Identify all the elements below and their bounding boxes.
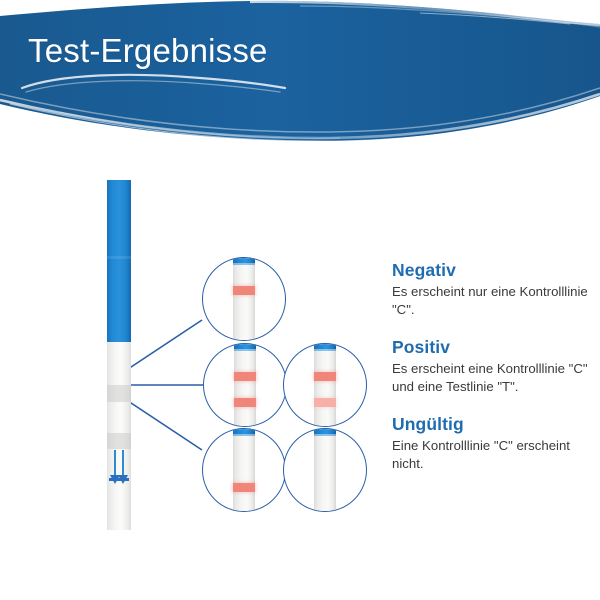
legend-item-positiv: Positiv Es erscheint eine Kontrolllinie … bbox=[392, 337, 590, 395]
legend-description-positiv: Es erscheint eine Kontrolllinie "C" und … bbox=[392, 360, 590, 395]
max-fill-arrow-marks bbox=[108, 448, 130, 494]
control-line-c bbox=[234, 372, 256, 381]
main-strip-blue-handle bbox=[107, 180, 131, 342]
fill-level-bar bbox=[109, 478, 129, 481]
main-strip-band-lower bbox=[107, 433, 131, 449]
mini-strip-blue-handle bbox=[314, 428, 336, 436]
result-callout-positiv-1 bbox=[203, 343, 287, 427]
banner-brushstroke-shape bbox=[0, 0, 600, 145]
result-callout-ungueltig-2 bbox=[283, 428, 367, 512]
legend-item-negativ: Negativ Es erscheint nur eine Kontrollli… bbox=[392, 260, 590, 318]
legend-title-ungueltig: Ungültig bbox=[392, 414, 590, 435]
legend-description-negativ: Es erscheint nur eine Kontrolllinie "C". bbox=[392, 283, 590, 318]
mini-strip-blue-handle bbox=[314, 343, 336, 351]
main-test-strip bbox=[107, 180, 131, 530]
test-line-t bbox=[234, 398, 256, 407]
connector-line-ungueltig bbox=[119, 395, 202, 450]
result-callout-ungueltig-1 bbox=[202, 428, 286, 512]
connector-line-negativ bbox=[119, 320, 202, 375]
mini-strip bbox=[314, 343, 336, 427]
mini-strip-blue-handle bbox=[233, 257, 255, 265]
legend-item-ungueltig: Ungültig Eine Kontrolllinie "C" erschein… bbox=[392, 414, 590, 472]
test-line-t bbox=[233, 483, 255, 492]
control-line-c bbox=[314, 372, 336, 381]
diagram-area: Negativ Es erscheint nur eine Kontrollli… bbox=[0, 145, 600, 600]
legend-title-negativ: Negativ bbox=[392, 260, 590, 281]
main-strip-band-upper bbox=[107, 385, 131, 402]
mini-strip bbox=[233, 428, 255, 512]
test-result-infographic: Test-Ergebnisse bbox=[0, 0, 600, 600]
legend-title-positiv: Positiv bbox=[392, 337, 590, 358]
test-line-t-faint bbox=[314, 398, 336, 407]
result-callout-negativ-1 bbox=[202, 257, 286, 341]
mini-strip-blue-handle bbox=[233, 428, 255, 436]
legend: Negativ Es erscheint nur eine Kontrollli… bbox=[392, 260, 590, 472]
result-callout-positiv-2 bbox=[283, 343, 367, 427]
control-line-c bbox=[233, 286, 255, 295]
mini-strip bbox=[233, 257, 255, 341]
header-banner: Test-Ergebnisse bbox=[0, 0, 600, 145]
page-title: Test-Ergebnisse bbox=[28, 32, 268, 70]
legend-description-ungueltig: Eine Kontrolllinie "C" erscheint nicht. bbox=[392, 437, 590, 472]
mini-strip bbox=[314, 428, 336, 512]
mini-strip bbox=[234, 343, 256, 427]
mini-strip-blue-handle bbox=[234, 343, 256, 351]
